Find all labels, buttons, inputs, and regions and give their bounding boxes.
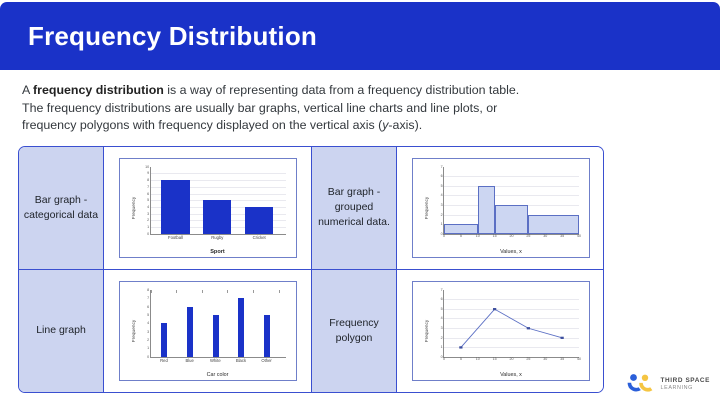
slide: Frequency Distribution A frequency distr…	[0, 0, 720, 407]
bar	[528, 215, 579, 234]
xtick: 0	[443, 357, 445, 361]
intro-term-bold: frequency distribution	[33, 83, 164, 97]
label-line-graph: Line graph	[36, 323, 86, 338]
ytick: 6	[441, 297, 443, 301]
bar	[161, 323, 167, 357]
ytick: 7	[147, 296, 149, 300]
xtick: 30	[543, 357, 547, 361]
ytick: 8	[147, 288, 149, 292]
xtick: 40	[577, 357, 581, 361]
ytick: 0	[147, 232, 149, 236]
ytick: 7	[441, 165, 443, 169]
bar	[444, 224, 478, 234]
ytick: 4	[147, 205, 149, 209]
table-cell-label-line-graph: Line graph	[19, 270, 104, 393]
xtick: 0	[443, 234, 445, 238]
chart-line-graph-ylabel: Frequency	[130, 319, 135, 342]
ytick: 6	[147, 305, 149, 309]
ytick: 4	[441, 193, 443, 197]
chart-frequency-polygon-plot: 0 1 2 3 4 5 6 7	[443, 290, 579, 358]
bar	[238, 298, 244, 357]
ytick: 3	[147, 212, 149, 216]
ytick: 0	[147, 355, 149, 359]
logo-line-2: LEARNING	[661, 385, 710, 391]
ytick: 7	[147, 185, 149, 189]
ytick: 1	[441, 345, 443, 349]
bar	[203, 200, 231, 234]
slide-header: Frequency Distribution	[0, 2, 720, 70]
ytick: 3	[147, 330, 149, 334]
chart-bar-grouped-ylabel: Frequency	[424, 196, 429, 219]
intro-line-3-b: -axis).	[388, 118, 422, 132]
ytick: 7	[441, 288, 443, 292]
ytick: 9	[147, 171, 149, 175]
ytick: 5	[441, 184, 443, 188]
ytick: 5	[147, 198, 149, 202]
ytick: 10	[145, 165, 149, 169]
ytick: 1	[441, 222, 443, 226]
page-title: Frequency Distribution	[0, 21, 317, 52]
ytick: 3	[441, 203, 443, 207]
logo-line-1: THIRD SPACE	[661, 377, 710, 384]
xcat: White	[210, 358, 221, 363]
ytick: 2	[441, 213, 443, 217]
table-cell-label-bar-categorical: Bar graph - categorical data	[19, 147, 104, 270]
xtick: 5	[460, 234, 462, 238]
chart-bar-categorical-ylabel: Frequency	[130, 196, 135, 219]
chart-bar-categorical-xlabel: Sport	[150, 249, 286, 255]
logo-wordmark: THIRD SPACE LEARNING	[661, 377, 710, 391]
bar	[495, 205, 529, 234]
chart-frequency-polygon-ylabel: Frequency	[424, 319, 429, 342]
label-bar-grouped: Bar graph - grouped numerical data.	[312, 185, 396, 230]
label-bar-categorical: Bar graph - categorical data	[19, 193, 103, 223]
ytick: 3	[441, 326, 443, 330]
chart-line-graph: Frequency 0 1 2 3 4 5 6 7 8	[119, 281, 297, 381]
table-cell-chart-line-graph: Frequency 0 1 2 3 4 5 6 7 8	[104, 270, 312, 393]
xtick: 10	[476, 234, 480, 238]
third-space-learning-logo-icon	[625, 373, 655, 395]
ytick: 6	[147, 192, 149, 196]
ytick: 4	[441, 316, 443, 320]
ytick: 4	[147, 321, 149, 325]
xtick: 40	[577, 234, 581, 238]
xtick: 35	[560, 234, 564, 238]
chart-frequency-polygon: Frequency 0 1 2 3 4 5 6 7	[412, 281, 590, 381]
ytick: 2	[441, 336, 443, 340]
ytick: 2	[147, 218, 149, 222]
bar	[264, 315, 270, 357]
table-cell-chart-frequency-polygon: Frequency 0 1 2 3 4 5 6 7	[397, 270, 604, 393]
bar	[213, 315, 219, 357]
xtick: 20	[510, 357, 514, 361]
label-frequency-polygon: Frequency polygon	[312, 316, 396, 346]
xtick: 20	[510, 234, 514, 238]
xtick: 10	[476, 357, 480, 361]
frequency-polygon-markers	[444, 290, 579, 357]
brand-logo: THIRD SPACE LEARNING	[625, 373, 710, 395]
intro-paragraph: A frequency distribution is a way of rep…	[22, 82, 702, 135]
chart-bar-grouped-xlabel: Values, x	[443, 249, 579, 255]
ytick: 1	[147, 346, 149, 350]
xtick: 15	[493, 234, 497, 238]
chart-bar-categorical: Frequency 0 1 2 3 4 5	[119, 158, 297, 258]
frequency-distribution-table: Bar graph - categorical data Frequency 0	[18, 146, 604, 393]
chart-bar-grouped-plot: 0 1 2 3 4 5 6 7 0 5 10 15 20	[443, 167, 579, 235]
intro-line-1: A frequency distribution is a way of rep…	[22, 82, 702, 100]
intro-line-3: frequency polygons with frequency displa…	[22, 117, 702, 135]
xcat: Rugby	[211, 235, 223, 240]
xcat: Other	[261, 358, 271, 363]
xtick: 25	[526, 357, 530, 361]
intro-line-3-a: frequency polygons with frequency displa…	[22, 118, 382, 132]
bar	[245, 207, 273, 234]
ytick: 5	[441, 307, 443, 311]
table-cell-chart-bar-grouped: Frequency 0 1 2 3 4 5 6 7	[397, 147, 604, 270]
xcat: Blue	[185, 358, 193, 363]
chart-frequency-polygon-xlabel: Values, x	[443, 372, 579, 378]
xtick: 30	[543, 234, 547, 238]
xtick: 25	[526, 234, 530, 238]
xcat: Football	[168, 235, 183, 240]
chart-line-graph-xlabel: Car color	[150, 372, 286, 378]
ytick: 6	[441, 174, 443, 178]
intro-line-2: The frequency distributions are usually …	[22, 100, 702, 118]
chart-bar-categorical-plot: 0 1 2 3 4 5 6 7 8 9 10 Football Rugby	[150, 167, 286, 235]
ytick: 8	[147, 178, 149, 182]
intro-line-1-b: is a way of representing data from a fre…	[164, 83, 519, 97]
xtick: 15	[493, 357, 497, 361]
intro-line-1-a: A	[22, 83, 33, 97]
chart-line-graph-plot: 0 1 2 3 4 5 6 7 8	[150, 290, 286, 358]
ytick: 5	[147, 313, 149, 317]
bar	[161, 180, 189, 234]
bar	[478, 186, 495, 234]
xtick: 35	[560, 357, 564, 361]
ytick: 1	[147, 225, 149, 229]
xcat: Black	[236, 358, 246, 363]
table-cell-chart-bar-categorical: Frequency 0 1 2 3 4 5	[104, 147, 312, 270]
bar	[187, 307, 193, 357]
chart-bar-grouped: Frequency 0 1 2 3 4 5 6 7	[412, 158, 590, 258]
table-cell-label-frequency-polygon: Frequency polygon	[312, 270, 397, 393]
table-cell-label-bar-grouped: Bar graph - grouped numerical data.	[312, 147, 397, 270]
xcat: Red	[160, 358, 168, 363]
ytick: 2	[147, 338, 149, 342]
xtick: 5	[460, 357, 462, 361]
xcat: Cricket	[253, 235, 266, 240]
